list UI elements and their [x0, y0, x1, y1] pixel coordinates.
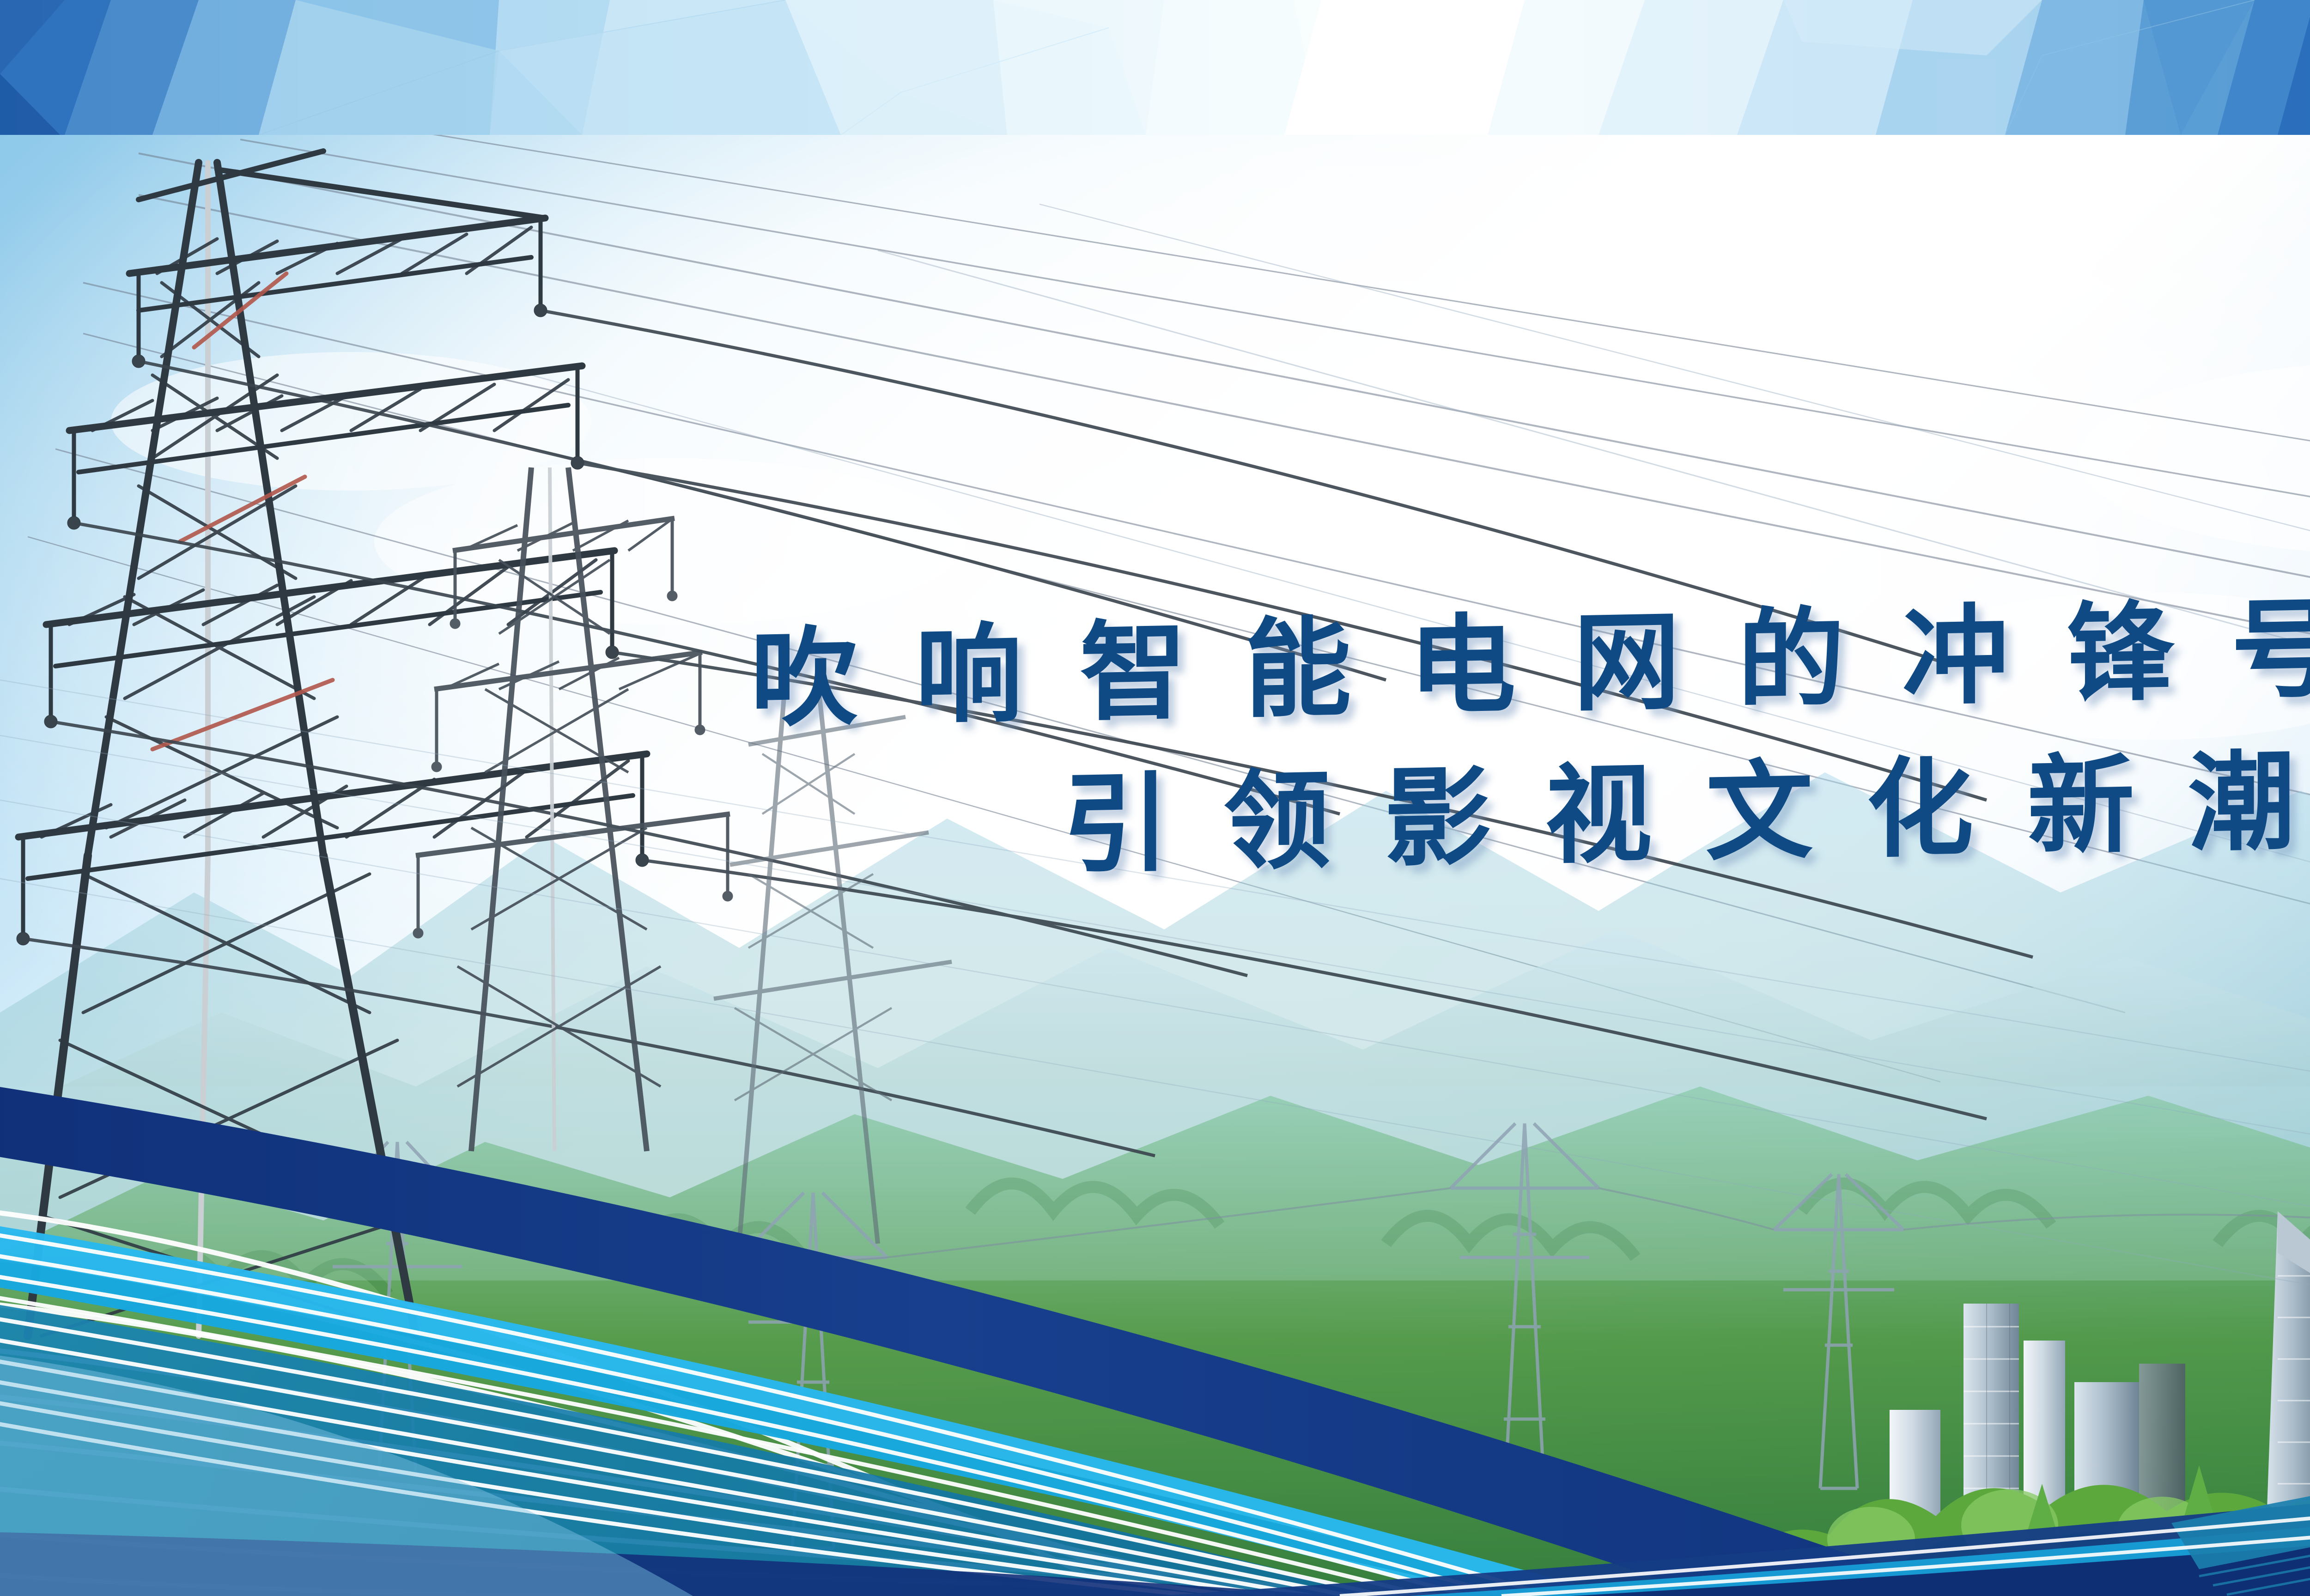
photo-scene — [0, 135, 2310, 1596]
top-geometric-band — [0, 0, 2310, 135]
poster-canvas: 吹响智能电网的冲锋号 引领影视文化新潮流 — [0, 0, 2310, 1596]
